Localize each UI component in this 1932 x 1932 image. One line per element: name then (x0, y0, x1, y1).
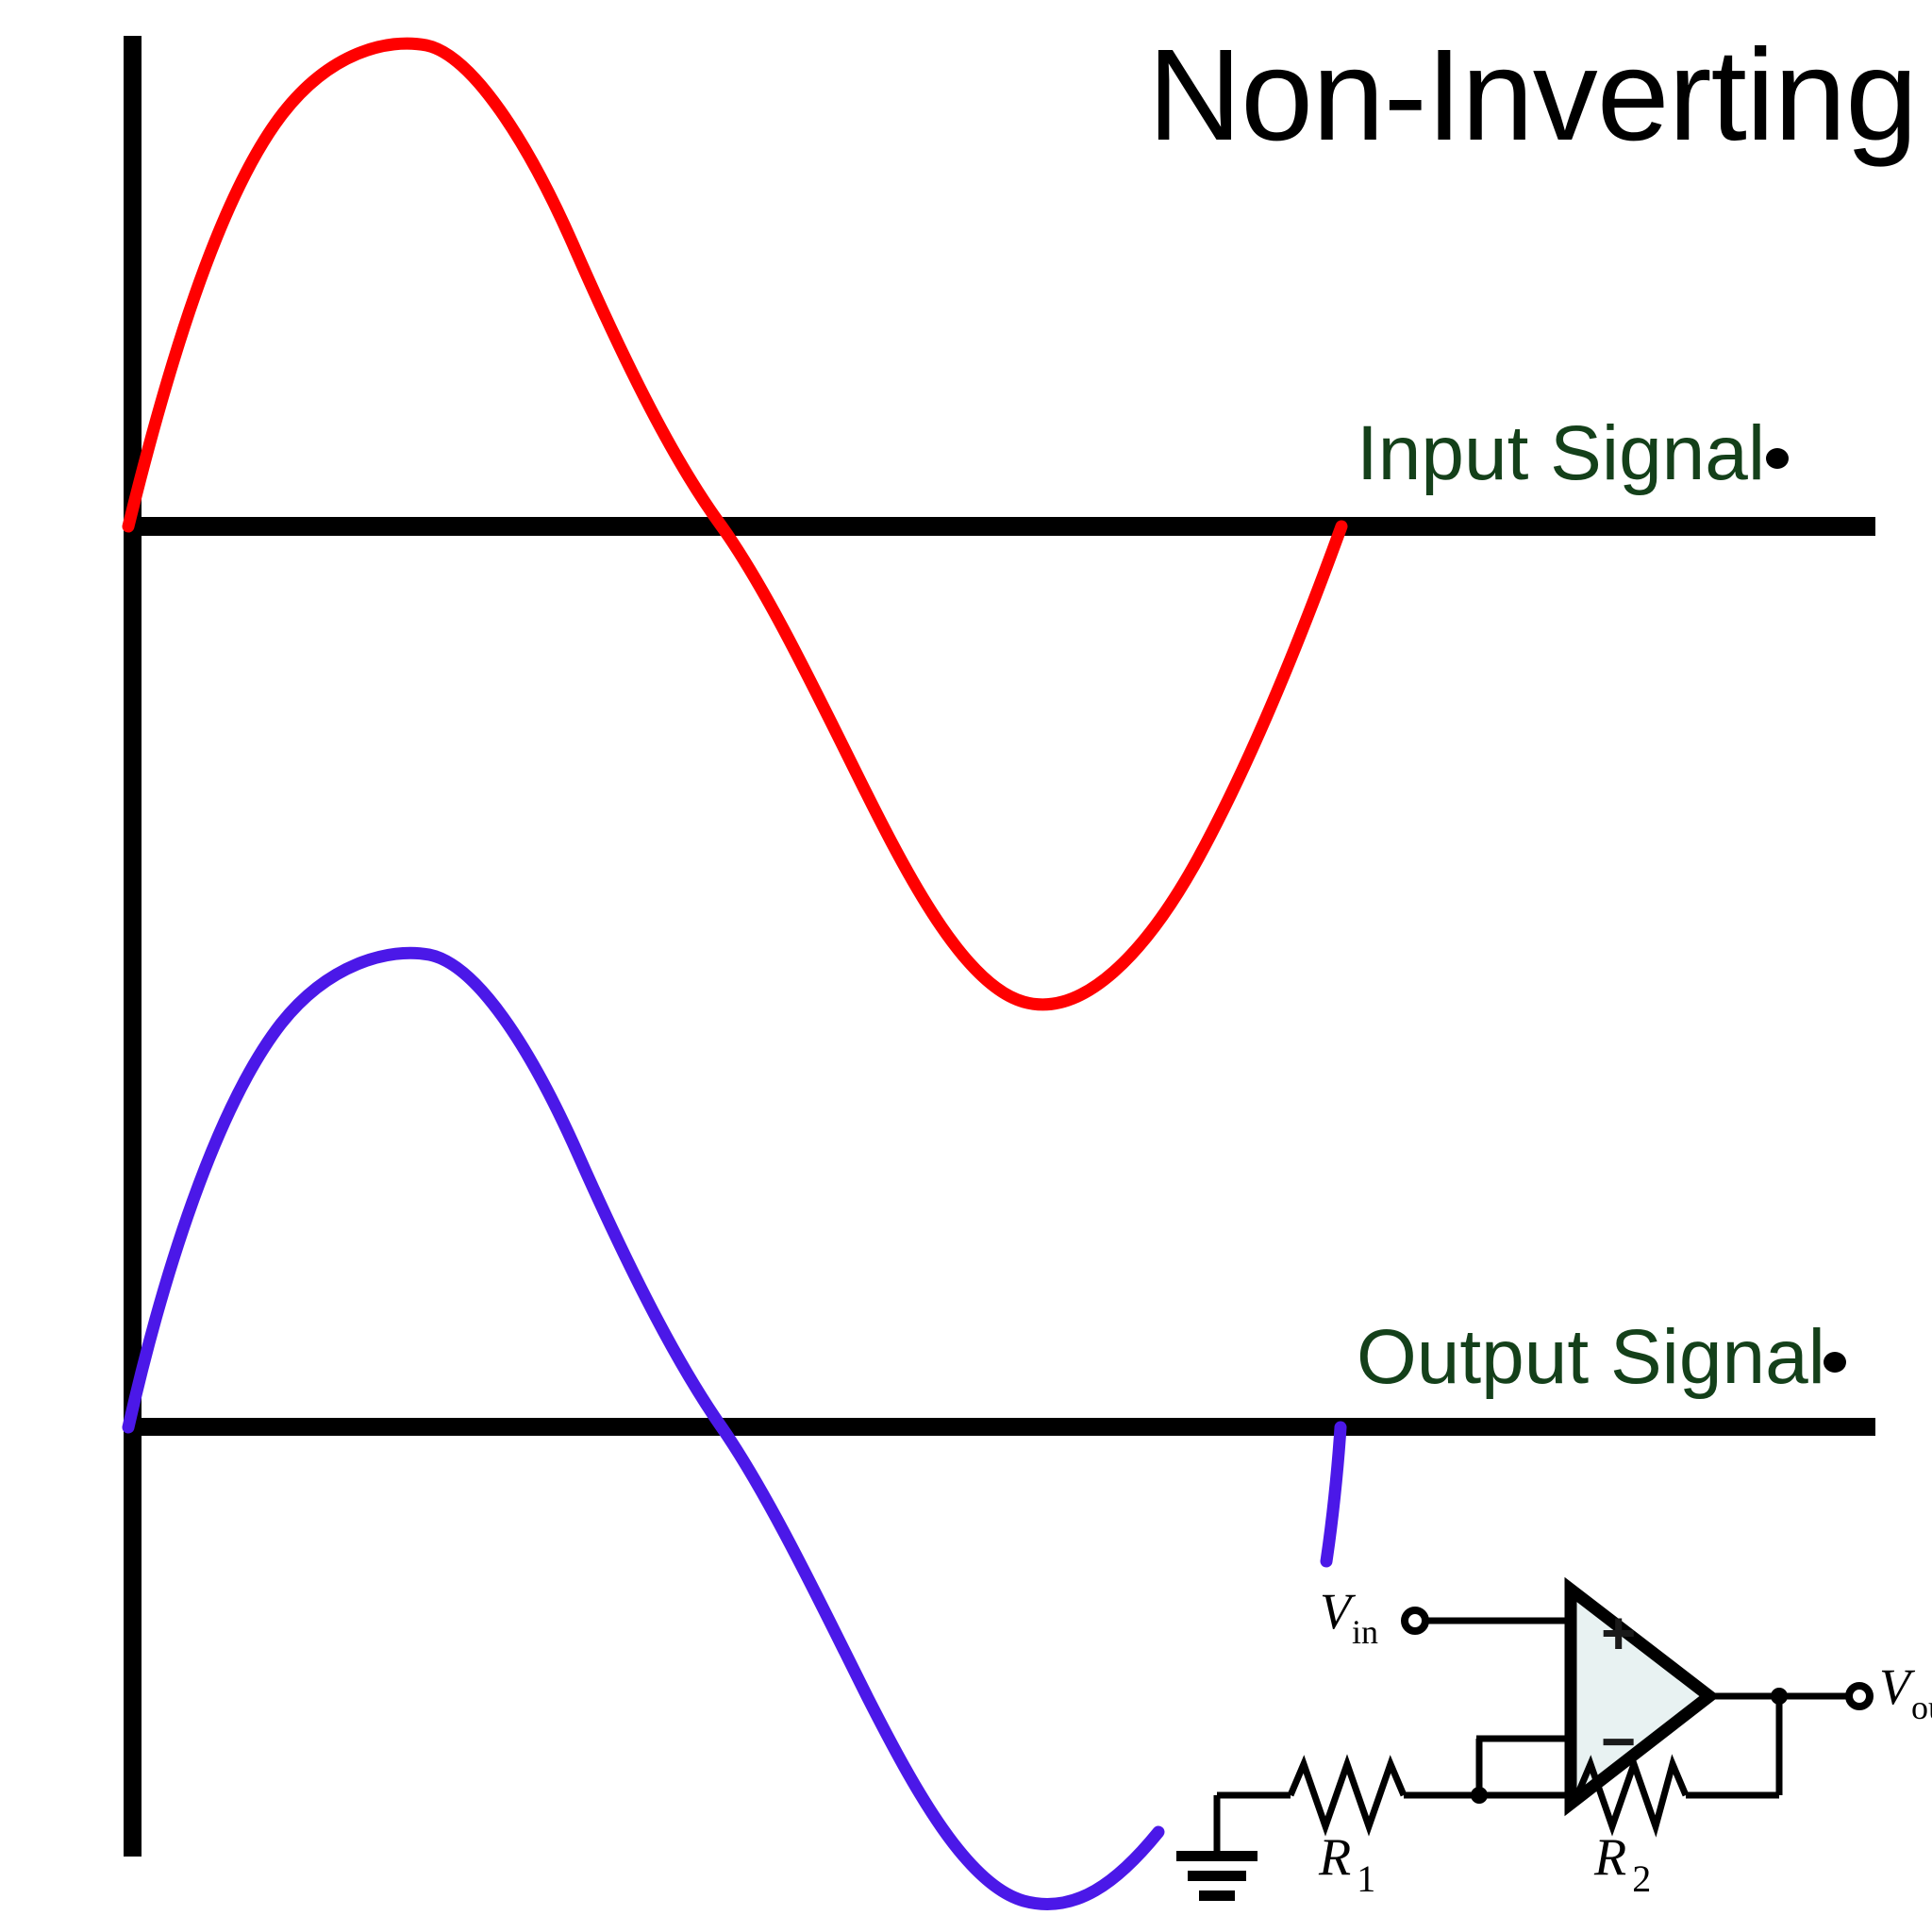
vout-label: Vout (1879, 1658, 1932, 1726)
input-label-speck-icon (1766, 448, 1789, 469)
r2-label: R2 (1593, 1828, 1651, 1900)
vertical-axis (124, 36, 142, 1857)
r1-label: R1 (1318, 1828, 1375, 1900)
diagram-canvas: Non-Inverting Input Signal Output Signal… (0, 0, 1932, 1932)
resistor-r1-icon (1291, 1764, 1404, 1826)
ground-symbol-icon (1176, 1795, 1257, 1901)
resistor-r2-icon (1577, 1764, 1686, 1826)
output-signal-label: Output Signal (1357, 1314, 1825, 1400)
opamp-noninverting-input-sign: + (1601, 1599, 1636, 1667)
input-baseline-axis (124, 517, 1875, 536)
output-label-speck-icon (1824, 1352, 1846, 1373)
output-baseline-axis (124, 1418, 1875, 1436)
vout-terminal-node-icon (1849, 1686, 1870, 1707)
input-signal-label: Input Signal (1357, 410, 1765, 496)
non-inverting-amplifier-figure: Non-Inverting Input Signal Output Signal… (0, 0, 1932, 1932)
vin-terminal-node-icon (1405, 1610, 1425, 1631)
output-signal-waveform-tail (1326, 1427, 1341, 1561)
opamp-circuit-schematic: + − Vin Vout (1176, 1583, 1932, 1901)
feedback-junction-dot-icon (1471, 1787, 1488, 1804)
page-title: Non-Inverting (1148, 23, 1917, 168)
vin-label: Vin (1320, 1583, 1378, 1651)
